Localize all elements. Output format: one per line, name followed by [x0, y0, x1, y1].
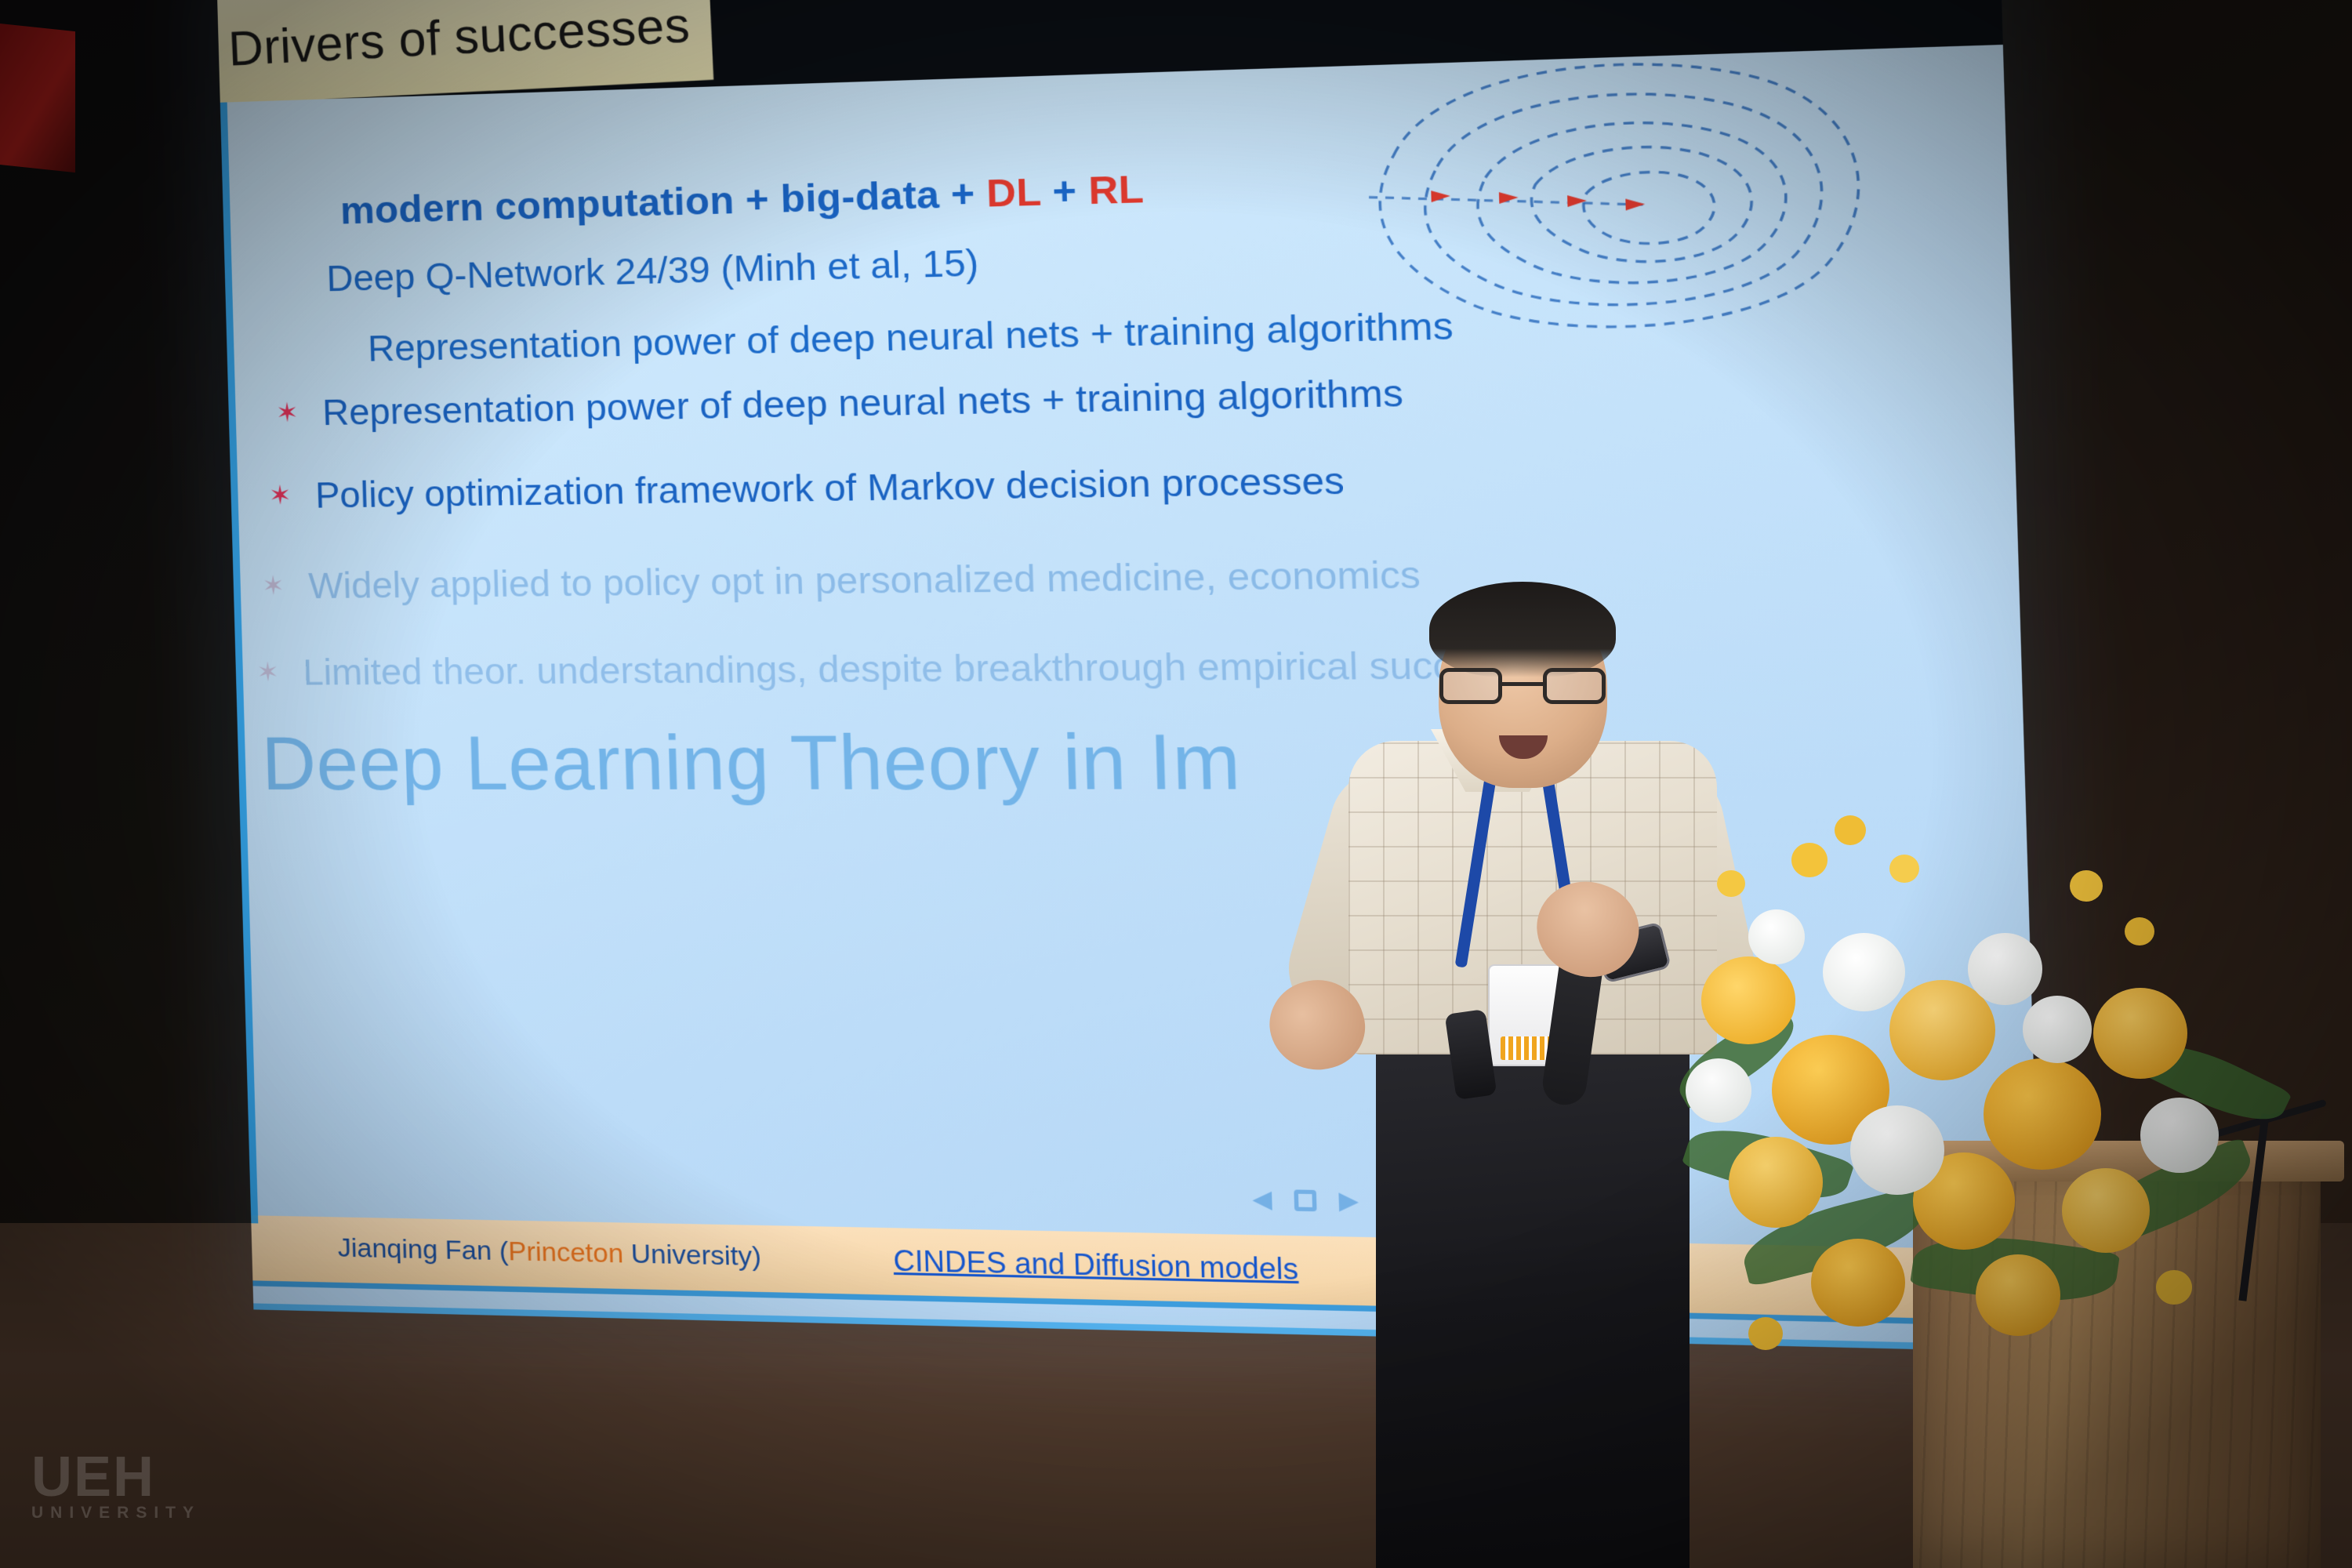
flower-bouquet	[1654, 800, 2352, 1427]
footer-center-label: CINDES and Diffusion models	[893, 1244, 1299, 1287]
star-bullet-icon: ✶	[275, 402, 299, 426]
ueh-watermark-sub: UNIVERSITY	[31, 1504, 201, 1523]
page-title: Drivers of successes	[227, 0, 713, 78]
star-bullet-icon: ✶	[268, 485, 292, 508]
list-item-label: Widely applied to policy opt in personal…	[308, 552, 1421, 608]
ueh-watermark: UEH UNIVERSITY	[31, 1450, 201, 1523]
star-bullet-icon: ✶	[256, 662, 280, 685]
formula-dl: DL	[986, 170, 1042, 216]
formula-part1: modern computation + big-data +	[339, 172, 987, 232]
flag-banner	[0, 24, 75, 172]
formula-rl: RL	[1088, 167, 1145, 212]
eyeglasses-icon	[1439, 668, 1606, 704]
formula-plus: +	[1040, 169, 1089, 214]
prev-arrow-icon[interactable]: ◀	[1252, 1187, 1272, 1212]
star-bullet-icon: ✶	[261, 575, 285, 598]
slide-formula: modern computation + big-data + DL + RL	[339, 166, 1145, 233]
footer-author-highlight: Princeton	[508, 1236, 624, 1269]
footer-author-prefix: Jianqing Fan (	[337, 1232, 508, 1266]
overlay-section-title: Deep Learning Theory in Im	[260, 717, 1242, 808]
slide-lead-line: Representation power of deep neural nets…	[367, 303, 1454, 370]
photo-scene: Drivers of successes	[0, 0, 2352, 1568]
speaker-trousers	[1376, 1019, 1690, 1568]
list-item: ✶ Policy optimization framework of Marko…	[268, 458, 1345, 517]
list-item-label: Policy optimization framework of Markov …	[314, 458, 1345, 517]
list-item-label: Representation power of deep neural nets…	[321, 370, 1403, 434]
footer-author: Jianqing Fan (Princeton University)	[337, 1232, 761, 1272]
slide-subline: Deep Q-Network 24/39 (Minh et al, 15)	[326, 240, 979, 299]
list-item: ✶ Widely applied to policy opt in person…	[261, 552, 1421, 608]
footer-author-suffix: University)	[623, 1239, 762, 1272]
ueh-watermark-logo: UEH	[31, 1450, 201, 1504]
speaker-hair	[1429, 582, 1616, 677]
list-item: ✶ Representation power of deep neural ne…	[275, 370, 1404, 434]
